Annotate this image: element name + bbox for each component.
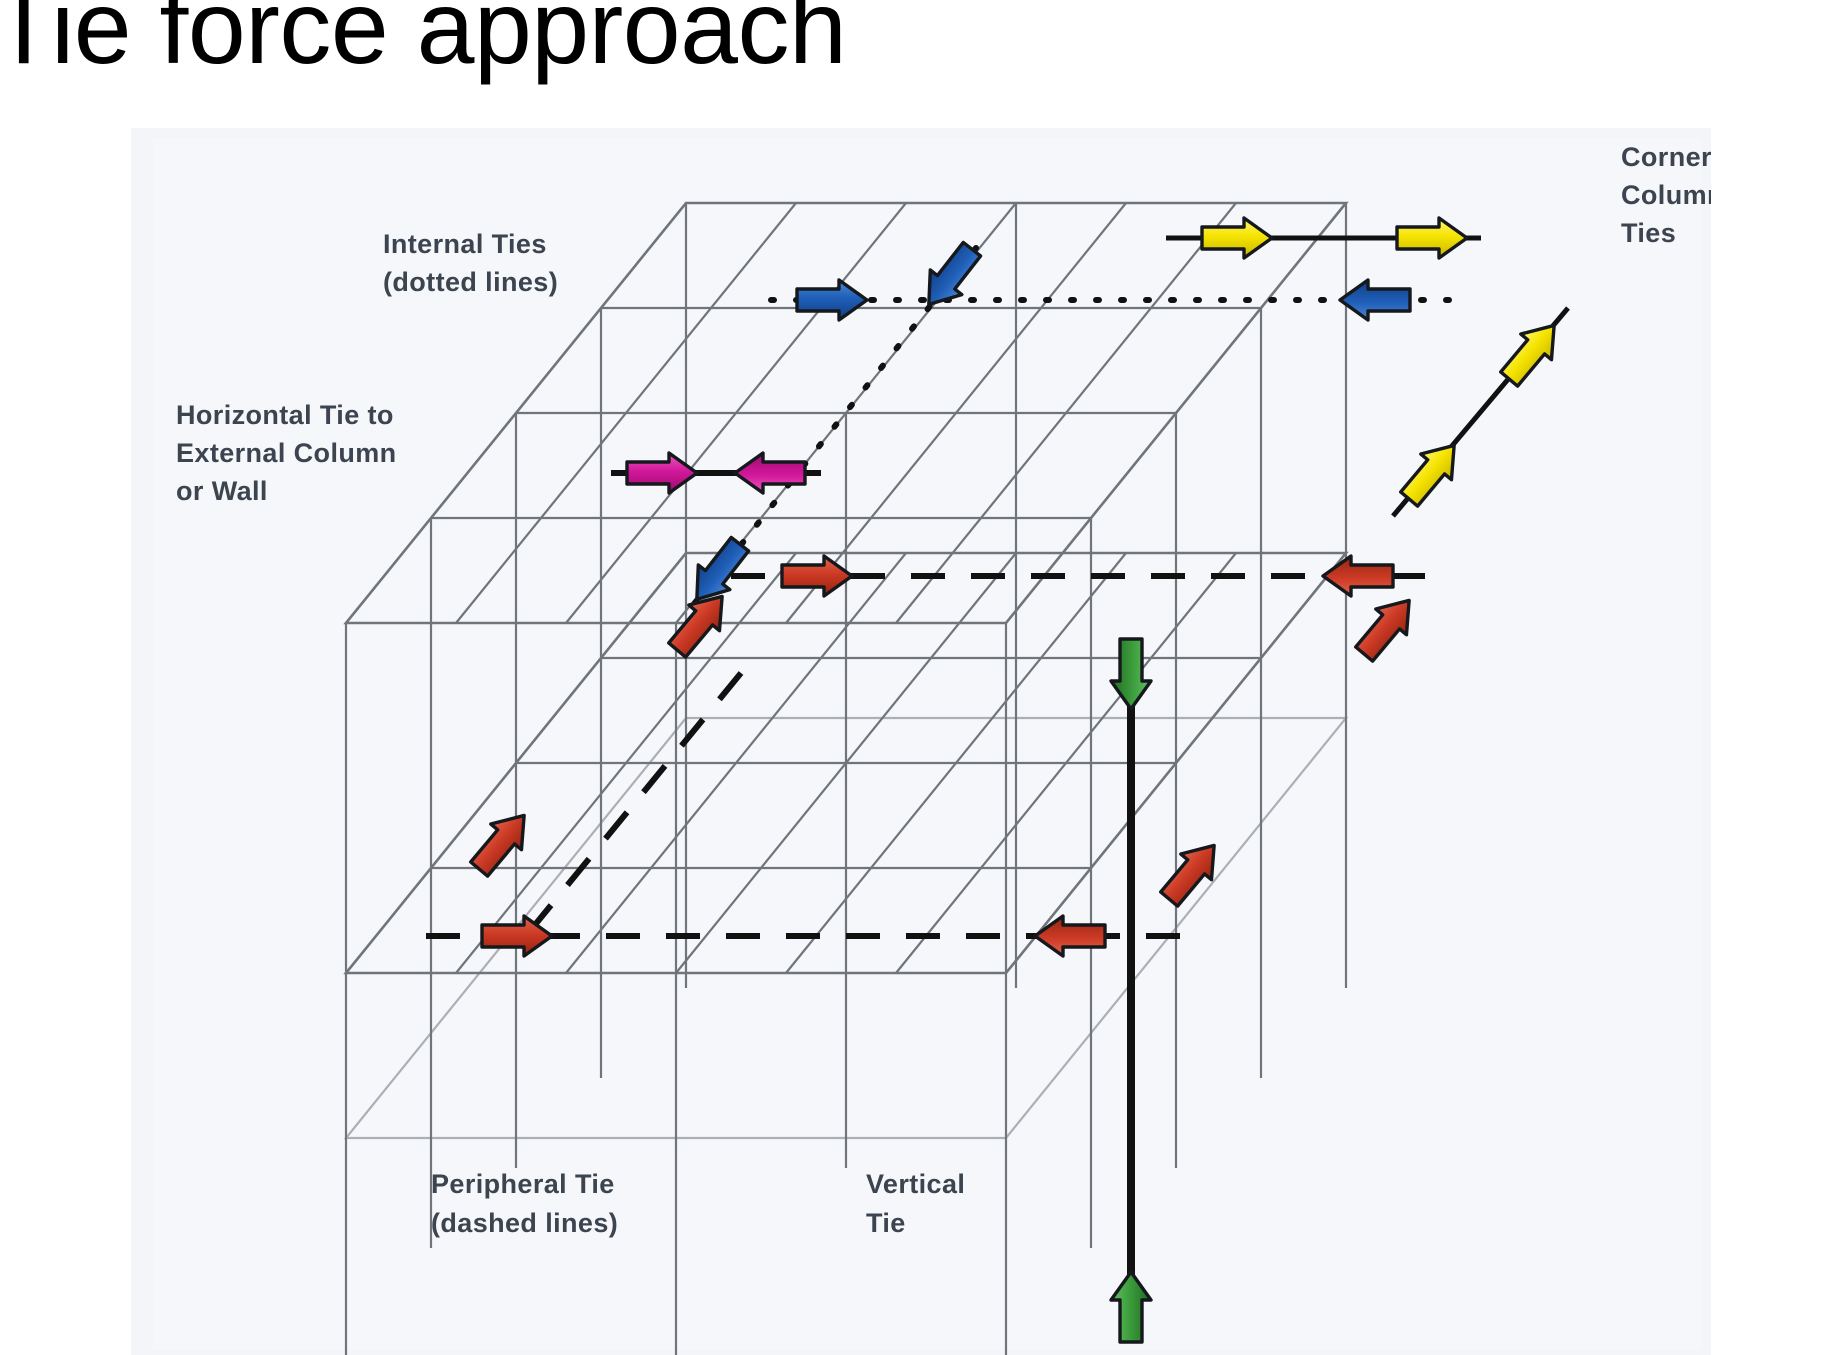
slide-canvas: Tie force approach bbox=[0, 0, 1835, 1355]
label-horizontal-tie-line1: Horizontal Tie to bbox=[176, 400, 394, 430]
diagram-svg: Internal Ties (dotted lines) Horizontal … bbox=[131, 128, 1711, 1355]
page-title: Tie force approach bbox=[0, 0, 846, 83]
label-internal-ties-line2: (dotted lines) bbox=[383, 267, 558, 297]
tie-force-diagram: Internal Ties (dotted lines) Horizontal … bbox=[131, 128, 1711, 1355]
label-internal-ties-line1: Internal Ties bbox=[383, 229, 547, 259]
label-vertical-tie-line2: Tie bbox=[866, 1208, 906, 1238]
label-vertical-tie-line1: Vertical bbox=[866, 1169, 965, 1199]
label-horizontal-tie-line3: or Wall bbox=[176, 476, 268, 506]
label-corner-column-ties-line1: Corner bbox=[1621, 142, 1711, 172]
label-peripheral-tie-line1: Peripheral Tie bbox=[431, 1169, 615, 1199]
label-horizontal-tie-line2: External Column bbox=[176, 438, 397, 468]
label-corner-column-ties-line3: Ties bbox=[1621, 218, 1676, 248]
label-peripheral-tie-line2: (dashed lines) bbox=[431, 1208, 618, 1238]
label-corner-column-ties-line2: Column bbox=[1621, 180, 1711, 210]
